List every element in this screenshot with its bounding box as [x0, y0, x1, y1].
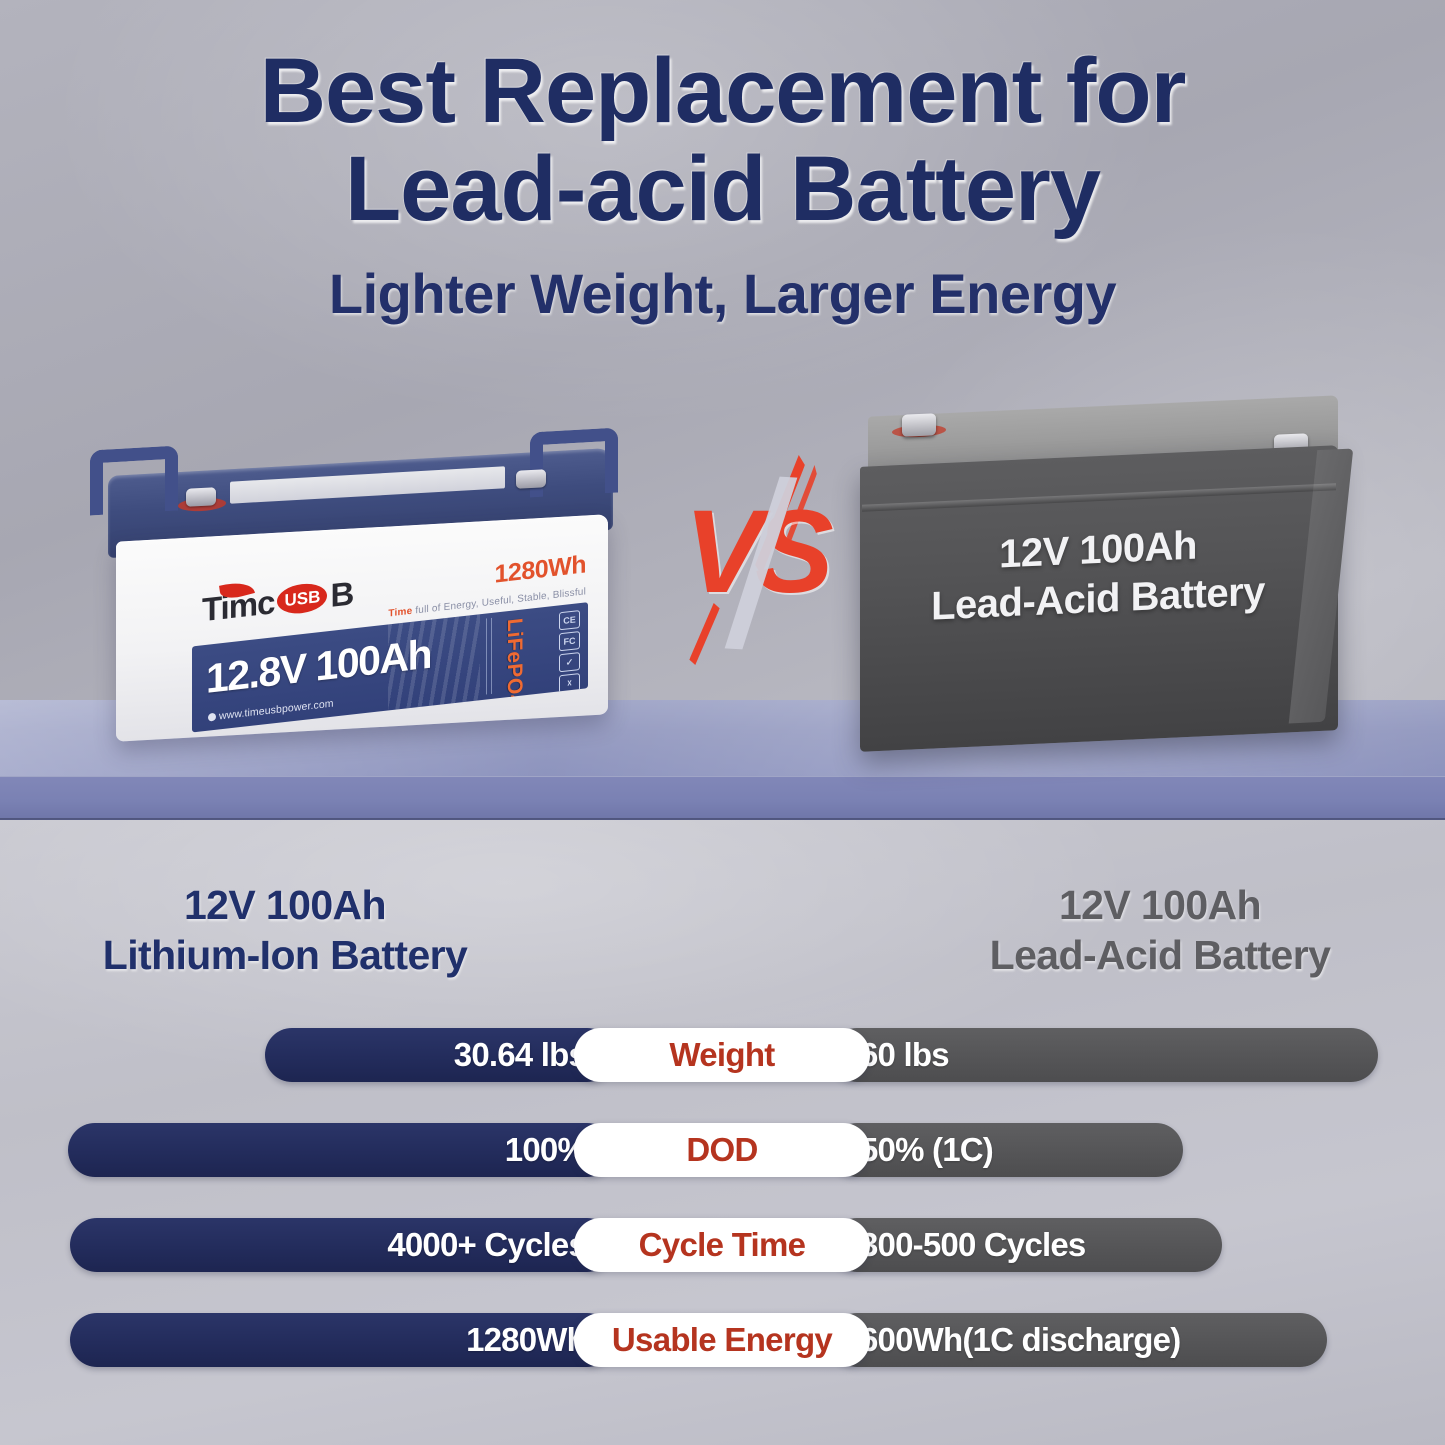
lithium-value-bar: 30.64 lbs: [265, 1028, 614, 1082]
comparison-row-usable-energy: 1280Wh 600Wh(1C discharge) Usable Energy: [0, 1313, 1445, 1367]
lead-acid-value-usable-energy: 600Wh(1C discharge): [860, 1313, 1180, 1367]
lithium-battery-product-image: Timc USB B 1280Wh Time full of Energy, U…: [78, 432, 623, 737]
lead-acid-value-bar: 300-500 Cycles: [830, 1218, 1222, 1272]
lead-acid-caption-line-1: 12V 100Ah: [999, 524, 1197, 577]
comparison-header-lithium: 12V 100Ah Lithium-Ion Battery: [5, 880, 565, 980]
headline-line-1: Best Replacement for: [260, 40, 1186, 142]
shelf-edge: [0, 776, 1445, 821]
lead-acid-value-bar: 50% (1C): [830, 1123, 1183, 1177]
lithium-battery-handle-left: [90, 446, 178, 516]
hero-section: Best Replacement for Lead-acid Battery L…: [0, 0, 1445, 360]
lithium-battery-case: Timc USB B 1280Wh Time full of Energy, U…: [116, 514, 608, 742]
fcc-certification-icon: FC: [559, 631, 580, 651]
attribute-label-weight: Weight: [574, 1028, 870, 1082]
lithium-value-bar: 100%: [68, 1123, 614, 1177]
subheadline: Lighter Weight, Larger Energy: [0, 239, 1445, 326]
versus-badge: VS: [660, 455, 850, 665]
comparison-column-headers: 12V 100Ah Lithium-Ion Battery 12V 100Ah …: [0, 880, 1445, 990]
weee-certification-icon: ☓: [559, 673, 580, 693]
lead-acid-value-cycle-time: 300-500 Cycles: [860, 1218, 1086, 1272]
tagline-prefix: Time: [388, 606, 412, 620]
lithium-negative-terminal: [516, 469, 546, 489]
product-comparison-infographic: Best Replacement for Lead-acid Battery L…: [0, 0, 1445, 1445]
ce-certification-icon: CE: [559, 610, 580, 630]
lead-acid-value-weight: 60 lbs: [860, 1028, 949, 1082]
comparison-row-dod: 100% 50% (1C) DOD: [0, 1123, 1445, 1177]
globe-icon: [208, 713, 216, 722]
lead-acid-battery-caption: 12V 100Ah Lead-Acid Battery: [888, 516, 1308, 633]
brand-name-suffix: B: [330, 576, 353, 612]
comparison-header-lead-acid: 12V 100Ah Lead-Acid Battery: [880, 880, 1440, 980]
headline-line-2: Lead-acid Battery: [0, 140, 1445, 238]
comparison-row-cycle-time: 4000+ Cycles 300-500 Cycles Cycle Time: [0, 1218, 1445, 1272]
lithium-value-bar: 1280Wh: [70, 1313, 614, 1367]
page-title: Best Replacement for Lead-acid Battery: [0, 0, 1445, 239]
lithium-positive-terminal: [186, 487, 216, 507]
lithium-value-weight: 30.64 lbs: [454, 1028, 586, 1082]
spec-panel-divider-1: [491, 618, 492, 694]
spec-panel-divider-2: [486, 618, 487, 694]
lead-acid-value-bar: 60 lbs: [830, 1028, 1378, 1082]
lithium-value-usable-energy: 1280Wh: [466, 1313, 586, 1367]
lithium-battery-handle-right: [530, 428, 618, 498]
chemistry-label: LiFePO4: [502, 617, 526, 708]
lead-acid-positive-terminal: [902, 413, 936, 437]
attribute-label-cycle-time: Cycle Time: [574, 1218, 870, 1272]
lithium-header-line-1: 12V 100Ah: [184, 882, 386, 928]
brand-logo: Timc USB B: [202, 576, 353, 626]
lead-acid-value-dod: 50% (1C): [860, 1123, 993, 1177]
url-text: www.timeusbpower.com: [219, 698, 334, 723]
comparison-row-weight: 30.64 lbs 60 lbs Weight: [0, 1028, 1445, 1082]
attribute-label-dod: DOD: [574, 1123, 870, 1177]
lead-acid-header-line-1: 12V 100Ah: [1059, 882, 1261, 928]
certification-badges: CE FC ✓ ☓: [559, 610, 580, 693]
rohs-certification-icon: ✓: [559, 652, 580, 672]
lead-acid-battery-product-image: 12V 100Ah Lead-Acid Battery: [848, 398, 1348, 750]
brand-usb-badge: USB: [277, 581, 327, 616]
lithium-value-cycle-time: 4000+ Cycles: [387, 1218, 586, 1272]
lead-acid-header-line-2: Lead-Acid Battery: [880, 930, 1440, 980]
attribute-label-usable-energy: Usable Energy: [574, 1313, 870, 1367]
lead-acid-value-bar: 600Wh(1C discharge): [830, 1313, 1327, 1367]
lithium-battery-label: Timc USB B 1280Wh Time full of Energy, U…: [178, 543, 596, 738]
product-website-url: www.timeusbpower.com: [208, 698, 334, 724]
lithium-value-bar: 4000+ Cycles: [70, 1218, 614, 1272]
lithium-header-line-2: Lithium-Ion Battery: [5, 930, 565, 980]
energy-capacity-badge: 1280Wh: [495, 550, 586, 589]
